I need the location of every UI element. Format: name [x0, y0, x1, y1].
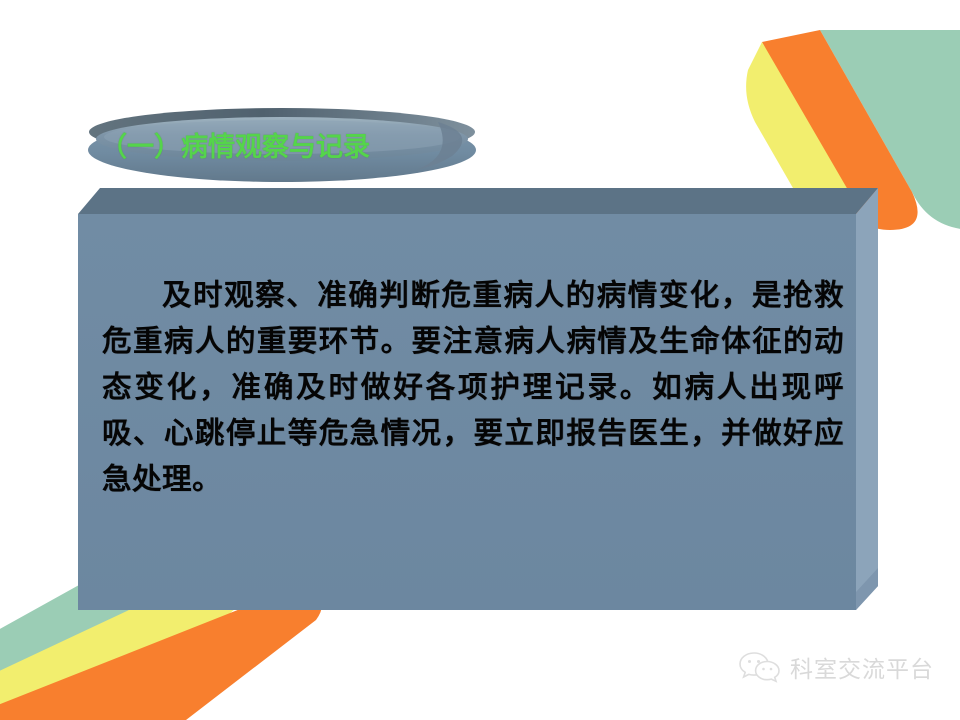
- body-right-bevel: [856, 188, 878, 610]
- body-paragraph: 及时观察、准确判断危重病人的病情变化，是抢救危重病人的重要环节。要注意病人病情及…: [102, 272, 844, 502]
- slide-canvas: （一）病情观察与记录 及时观察、准确判断危重病人的病情变化，是抢救危重病人的重要…: [0, 0, 960, 720]
- watermark: 科室交流平台: [738, 650, 934, 684]
- body-shape: 及时观察、准确判断危重病人的病情变化，是抢救危重病人的重要环节。要注意病人病情及…: [78, 182, 878, 614]
- watermark-label: 科室交流平台: [790, 650, 934, 684]
- body-top-bevel: [78, 188, 878, 214]
- title-text: （一）病情观察与记录: [86, 104, 478, 184]
- wechat-icon: [738, 650, 782, 684]
- title-shape: （一）病情观察与记录: [86, 104, 478, 184]
